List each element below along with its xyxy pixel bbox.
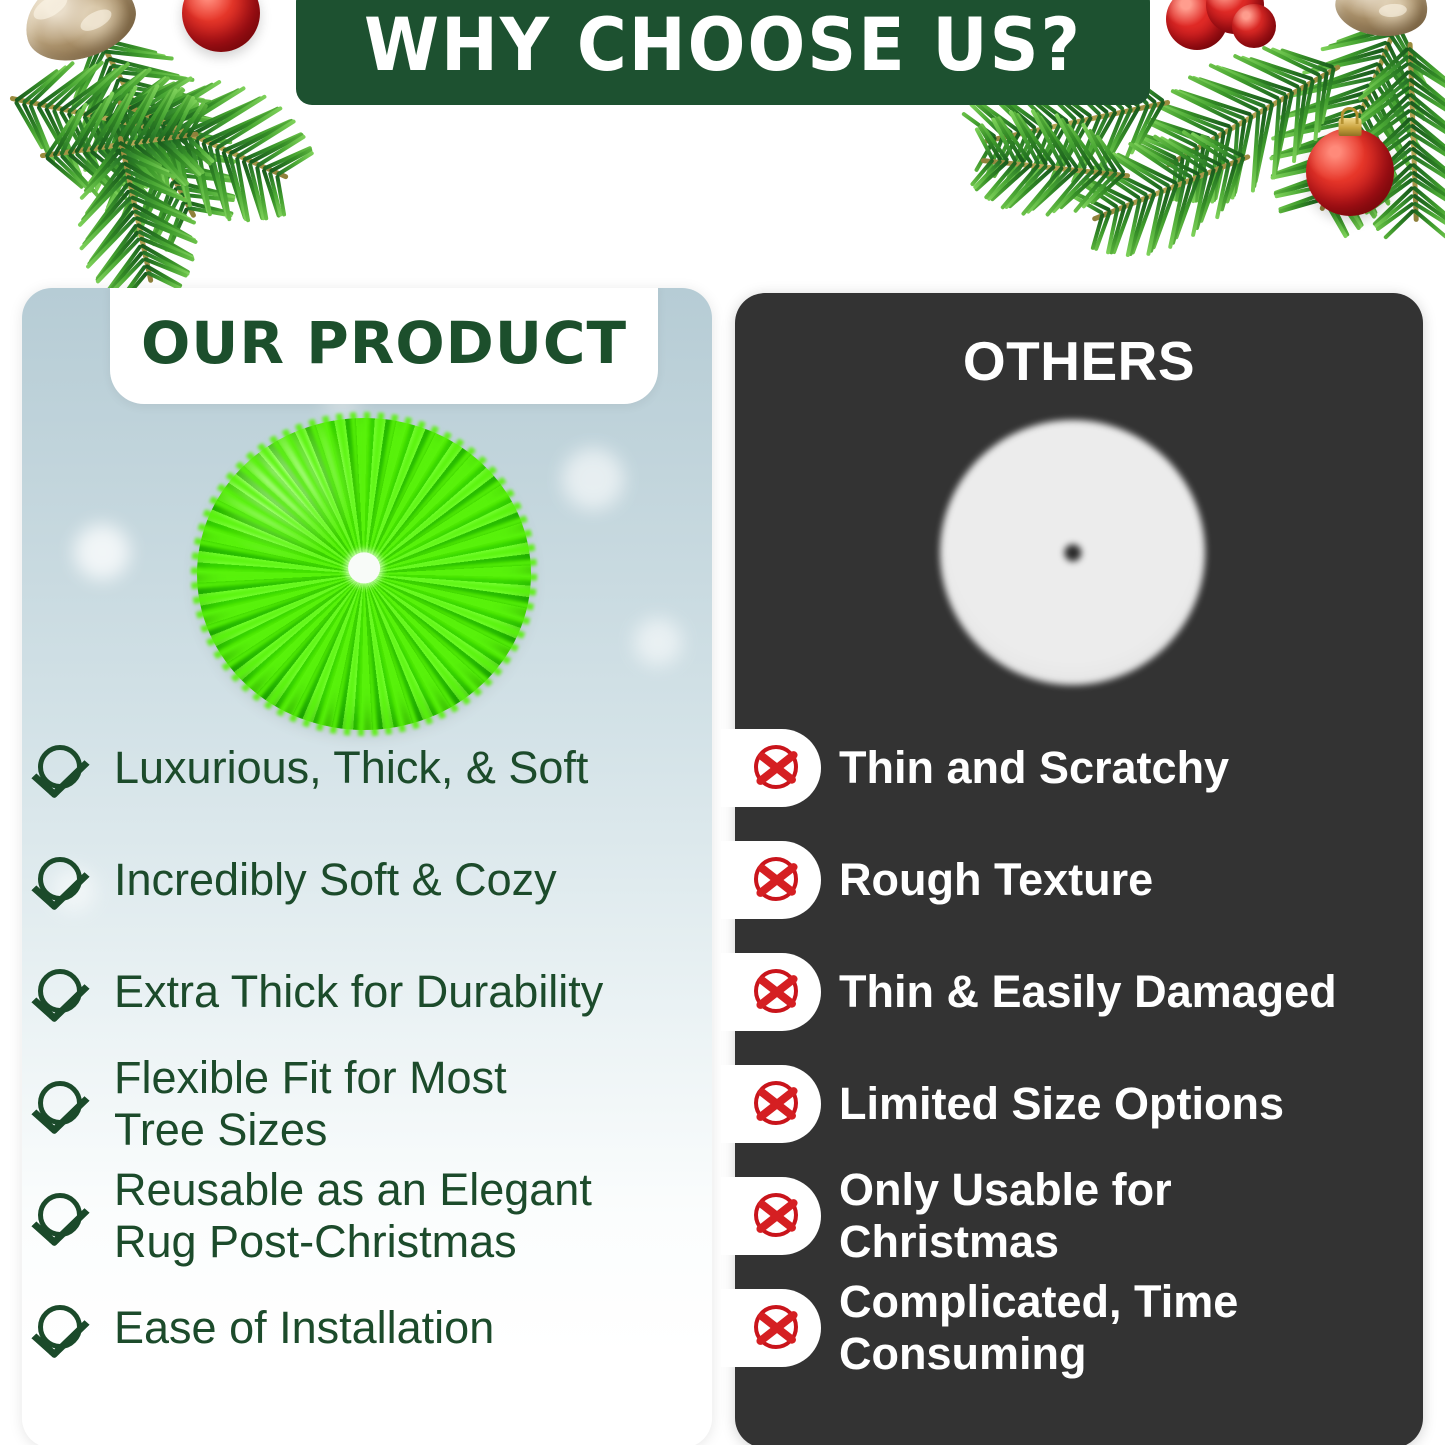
pine-needle	[255, 134, 306, 168]
pine-needle	[14, 100, 45, 150]
pine-needle	[130, 195, 196, 225]
pine-needle	[241, 159, 264, 220]
pine-needle	[1408, 85, 1445, 128]
branch-stem	[117, 100, 289, 180]
pine-needle	[1364, 178, 1414, 216]
pine-needle	[29, 104, 57, 164]
pine-needle	[983, 161, 1017, 201]
pine-needle	[74, 152, 121, 198]
pine-needle	[1408, 77, 1445, 123]
pine-needle	[105, 244, 142, 293]
pine-needle	[261, 168, 281, 217]
pine-needle	[1073, 170, 1110, 213]
pine-needle	[119, 123, 149, 190]
pine-needle	[1274, 169, 1336, 195]
pine-needle	[969, 102, 1005, 137]
pine-needle	[95, 237, 141, 284]
x-circle-icon	[752, 1079, 802, 1129]
pine-needle	[275, 175, 286, 217]
pine-needle	[118, 140, 163, 168]
pine-needle	[1139, 144, 1200, 177]
check-circle-icon	[36, 854, 88, 906]
pine-needle	[142, 87, 186, 130]
others-feature-label: Only Usable forChristmas	[839, 1164, 1172, 1268]
pine-needle	[81, 91, 114, 153]
pine-needle	[79, 196, 132, 251]
x-circle-icon	[752, 855, 802, 905]
pine-needle	[1262, 45, 1321, 77]
pine-needle	[81, 189, 130, 247]
branch-stem	[1408, 42, 1419, 222]
pine-needle	[118, 77, 199, 101]
pine-needle	[1213, 126, 1233, 200]
pine-needle	[60, 67, 120, 112]
pine-needle	[126, 144, 173, 195]
pine-needle	[123, 161, 178, 195]
pine-needle	[1009, 110, 1041, 166]
pine-needle	[111, 63, 188, 80]
pine-needle	[1274, 176, 1333, 197]
pine-needle	[149, 141, 190, 186]
pine-needle	[249, 132, 305, 165]
pine-branch	[980, 154, 1130, 182]
pine-needle	[29, 61, 75, 106]
pine-needle	[268, 171, 283, 217]
others-feature-label: Limited Size Options	[839, 1078, 1284, 1130]
pine-needle	[85, 216, 137, 269]
pine-needle	[122, 84, 206, 103]
pine-needle	[222, 119, 292, 153]
pine-needle	[1106, 207, 1120, 254]
pine-needle	[1382, 48, 1423, 115]
pine-needle	[44, 107, 78, 172]
pine-needle	[1233, 53, 1300, 89]
pine-needle	[189, 96, 263, 138]
pine-needle	[988, 133, 1013, 179]
pine-needle	[1095, 134, 1126, 174]
pine-needle	[77, 175, 128, 228]
pine-needle	[51, 109, 82, 178]
pine-needle	[94, 105, 135, 190]
pine-branch	[1164, 61, 1343, 171]
pine-needle	[143, 257, 188, 279]
pine-needle	[142, 128, 168, 185]
pine-needle	[163, 95, 193, 142]
pine-needle	[1336, 19, 1397, 45]
pine-needle	[1151, 183, 1179, 250]
pine-needle	[158, 152, 236, 164]
check-circle-icon	[36, 742, 88, 794]
pine-needle	[85, 182, 130, 242]
pine-needle	[1146, 120, 1197, 148]
pine-needle	[1015, 113, 1056, 168]
pine-needle	[74, 96, 110, 154]
pine-needle	[1273, 95, 1288, 174]
pine-needle	[1214, 64, 1286, 97]
pine-needle	[111, 89, 154, 149]
our-product-feature-label: Reusable as an ElegantRug Post-Christmas	[114, 1164, 592, 1268]
pine-needle	[1294, 83, 1308, 156]
pine-needle	[186, 136, 215, 164]
pine-needle	[1130, 192, 1156, 255]
pine-needle	[1345, 141, 1391, 207]
pine-needle	[141, 142, 187, 187]
pine-needle	[1412, 209, 1445, 240]
pine-needle	[1339, 155, 1378, 218]
pine-needle	[1280, 48, 1334, 69]
others-feature-label: Thin & Easily Damaged	[839, 966, 1337, 1018]
check-circle-icon	[36, 1190, 88, 1242]
pine-needle	[1354, 116, 1412, 172]
pine-needle	[1152, 134, 1207, 173]
pine-needle	[181, 133, 209, 209]
pine-needle	[1138, 138, 1177, 160]
pine-needle	[127, 182, 188, 220]
pine-needle	[1146, 189, 1164, 256]
pine-needle	[133, 104, 220, 123]
pine-needle	[1355, 147, 1413, 196]
pine-needle	[151, 194, 182, 247]
pine-needle	[1333, 170, 1364, 228]
x-circle-icon	[752, 967, 802, 1017]
pine-needle	[1320, 33, 1391, 52]
pine-needle	[1027, 122, 1061, 186]
pine-needle	[119, 86, 157, 148]
pine-needle	[95, 230, 140, 282]
pine-needle	[104, 120, 145, 187]
pine-needle	[1411, 170, 1445, 212]
pine-needle	[107, 57, 180, 79]
pine-needle	[142, 85, 207, 117]
pine-needle	[1091, 164, 1141, 200]
pine-needle	[1350, 85, 1410, 130]
pine-needle	[1148, 118, 1204, 144]
pine-needle	[115, 70, 195, 83]
pine-needle	[1351, 124, 1412, 176]
pinecone-top-right	[1331, 0, 1433, 43]
pine-needle	[1270, 154, 1341, 178]
pine-needle	[88, 203, 134, 264]
pine-needle	[97, 118, 129, 190]
pine-needle	[135, 75, 193, 114]
pine-needle	[1359, 105, 1400, 183]
pine-needle	[1233, 114, 1254, 194]
pine-needle	[112, 121, 148, 188]
pine-branch	[116, 97, 291, 184]
pine-needle	[156, 140, 200, 178]
pine-needle	[1278, 190, 1328, 212]
x-icon-pill	[721, 1065, 821, 1143]
branch-stem	[981, 158, 1131, 179]
pine-needle	[167, 127, 190, 202]
pine-needle	[136, 223, 194, 259]
pine-needle	[1038, 115, 1079, 170]
pine-needle	[112, 76, 168, 124]
pine-needle	[1030, 121, 1069, 185]
pine-needle	[209, 106, 281, 147]
pine-needle	[1195, 138, 1213, 203]
pine-needle	[100, 43, 166, 59]
pine-needle	[1171, 158, 1178, 201]
pine-needle	[1072, 190, 1111, 212]
pine-needle	[1208, 63, 1280, 101]
pine-needle	[1094, 163, 1148, 197]
pine-needle	[1174, 154, 1185, 202]
pine-needle	[136, 111, 224, 124]
pine-needle	[1090, 172, 1126, 205]
pine-needle	[1409, 116, 1445, 170]
pine-needle	[991, 117, 1018, 163]
pine-needle	[187, 206, 233, 218]
pine-needle	[1171, 177, 1194, 245]
pine-needle	[1293, 69, 1376, 97]
pine-needle	[1159, 136, 1215, 171]
pine-needle	[1362, 98, 1413, 171]
pine-needle	[1278, 197, 1324, 214]
pine-needle	[66, 112, 103, 182]
pine-needle	[52, 60, 105, 111]
pine-needle	[137, 229, 195, 260]
pine-needle	[202, 107, 277, 144]
pine-needle	[1412, 185, 1445, 225]
x-circle-icon	[752, 1191, 802, 1241]
pine-needle	[120, 147, 170, 174]
pine-needle	[178, 102, 205, 140]
our-product-feature-list: Luxurious, Thick, & SoftIncredibly Soft …	[0, 712, 690, 1384]
pine-needle	[1081, 171, 1118, 209]
x-icon-pill	[721, 1177, 821, 1255]
pine-needle	[1030, 108, 1064, 168]
pine-needle	[1351, 127, 1390, 202]
pine-needle	[1078, 110, 1117, 174]
pine-needle	[161, 158, 235, 180]
pine-needle	[79, 155, 124, 201]
pine-needle	[182, 98, 258, 135]
pine-needle	[90, 68, 149, 119]
pine-branch	[1090, 150, 1252, 225]
pine-needle	[1174, 174, 1201, 240]
pine-needle	[1221, 66, 1293, 93]
pine-needle	[201, 141, 229, 216]
pine-needle	[1034, 111, 1072, 169]
pine-needle	[1408, 93, 1445, 145]
pine-needle	[81, 168, 127, 222]
pine-needle	[133, 160, 164, 235]
pine-needle	[1365, 91, 1411, 167]
pine-needle	[175, 86, 246, 132]
pine-needle	[96, 36, 157, 55]
pine-needle	[97, 67, 152, 121]
pine-needle	[242, 132, 303, 162]
pine-needle	[1286, 83, 1370, 117]
pine-needle	[97, 99, 132, 185]
pine-needle	[169, 88, 241, 129]
pine-needle	[1094, 210, 1113, 252]
pine-needle	[1325, 191, 1350, 237]
red-berry-c	[1232, 4, 1276, 48]
pine-needle	[104, 50, 174, 62]
pine-needle	[977, 124, 1002, 161]
pine-needle	[121, 106, 142, 160]
pine-needle	[1025, 124, 1054, 188]
pine-needle	[59, 110, 100, 177]
pine-needle	[36, 105, 73, 165]
pine-needle	[262, 146, 312, 171]
pine-needle	[1411, 154, 1445, 196]
pine-needle	[194, 139, 212, 217]
pine-needle	[87, 141, 121, 185]
pine-needle	[105, 126, 145, 210]
pine-needle	[1139, 135, 1183, 156]
pine-needle	[129, 97, 214, 122]
pine-needle	[82, 70, 144, 117]
pine-needle	[1198, 165, 1223, 224]
pine-needle	[1096, 109, 1126, 175]
pine-needle	[1010, 126, 1046, 184]
our-product-feature-label: Extra Thick for Durability	[114, 966, 603, 1018]
pine-needle	[140, 118, 226, 143]
branch-stem	[1319, 15, 1402, 212]
pine-branch	[9, 92, 188, 141]
pine-needle	[155, 79, 221, 123]
pine-needle	[1410, 124, 1445, 174]
pine-needle	[1351, 101, 1411, 152]
pine-needle	[122, 81, 177, 108]
red-berry-b	[1206, 0, 1264, 34]
pine-needle	[174, 130, 192, 207]
pine-needle	[52, 108, 83, 157]
pine-needle	[44, 63, 98, 109]
red-bauble-top-right	[1306, 128, 1394, 216]
pine-needle	[80, 58, 110, 132]
pine-needle	[1373, 193, 1414, 229]
pine-needle	[1168, 180, 1187, 250]
pine-needle	[1212, 130, 1226, 202]
our-product-feature-row: Incredibly Soft & Cozy	[0, 824, 690, 936]
pine-needle	[172, 179, 235, 199]
pine-needle	[97, 148, 148, 197]
pine-needle	[1277, 97, 1365, 120]
pine-needle	[248, 163, 266, 221]
pine-needle	[1408, 62, 1445, 100]
pine-needle	[133, 209, 197, 243]
pine-needle	[974, 136, 997, 172]
pine-needle	[1362, 54, 1410, 95]
pine-needle	[89, 93, 131, 152]
pine-needle	[255, 166, 269, 221]
pine-needle	[1363, 170, 1414, 214]
pine-needle	[1302, 54, 1382, 75]
check-circle-icon	[36, 1302, 88, 1354]
pine-needle	[128, 188, 192, 222]
pine-needle	[77, 65, 113, 140]
pine-needle	[68, 51, 106, 118]
pine-needle	[60, 154, 100, 198]
pine-needle	[993, 116, 1025, 164]
pine-needle	[157, 131, 183, 179]
pine-needle	[1059, 117, 1095, 171]
pine-needle	[1274, 111, 1359, 139]
pine-needle	[87, 78, 120, 160]
pine-needle	[1357, 139, 1413, 193]
pine-needle	[229, 118, 295, 156]
pine-needle	[1177, 150, 1192, 202]
pine-needle	[1409, 100, 1445, 149]
pine-needle	[156, 94, 191, 143]
pine-needle	[1241, 55, 1307, 85]
pine-needle	[1020, 165, 1064, 216]
pine-needle	[1215, 162, 1231, 220]
pine-needle	[67, 153, 115, 194]
branch-stem	[984, 100, 1171, 144]
pine-needle	[269, 148, 313, 174]
pine-needle	[1271, 119, 1356, 141]
pine-needle	[1408, 70, 1445, 117]
pine-needle	[1368, 47, 1410, 88]
pine-needle	[1003, 164, 1048, 210]
pine-needle	[171, 96, 196, 141]
pine-needle	[1225, 156, 1246, 204]
pine-needle	[1070, 114, 1102, 184]
pine-needle	[1383, 209, 1415, 240]
pine-needle	[1372, 186, 1414, 227]
pine-needle	[144, 264, 183, 289]
infographic-root: WHY CHOOSE US? OUR PRODUCT Luxurious, Th…	[0, 0, 1445, 1445]
pine-needle	[221, 150, 247, 220]
pine-needle	[986, 161, 1025, 201]
pine-needle	[127, 109, 146, 168]
pine-needle	[1410, 139, 1445, 192]
our-product-feature-label: Luxurious, Thick, & Soft	[114, 742, 588, 794]
pine-needle	[1190, 131, 1237, 161]
pine-needle	[135, 86, 184, 128]
pine-needle	[67, 64, 126, 114]
bokeh-dot	[634, 618, 682, 666]
pine-needle	[1336, 162, 1377, 219]
pine-needle	[148, 180, 175, 244]
pine-needle	[996, 116, 1033, 165]
pine-needle	[22, 65, 68, 105]
our-product-heading-pill: OUR PRODUCT	[110, 288, 658, 404]
pine-needle	[1277, 104, 1362, 138]
pine-needle	[1177, 89, 1252, 117]
pine-needle	[1053, 115, 1094, 181]
pine-needle	[1007, 164, 1056, 209]
bokeh-dot	[562, 448, 624, 510]
pine-needle	[1273, 126, 1354, 159]
pine-needle	[1074, 112, 1110, 179]
pine-needle	[82, 151, 128, 201]
bokeh-dot	[74, 524, 130, 580]
pine-branch	[1316, 14, 1406, 213]
pine-needle	[1065, 122, 1103, 172]
red-berry-a	[1166, 0, 1228, 50]
pine-needle	[74, 61, 130, 115]
pine-needle	[44, 115, 75, 159]
pine-needle	[73, 38, 99, 100]
pine-needle	[215, 105, 283, 150]
pine-needle	[147, 131, 232, 144]
pine-needle	[128, 86, 183, 127]
pine-needle	[89, 116, 126, 187]
pine-needle	[150, 129, 181, 179]
our-product-feature-row: Ease of Installation	[0, 1272, 690, 1384]
pine-needle	[1081, 122, 1110, 172]
pine-needle	[96, 89, 134, 151]
others-feature-label: Rough Texture	[839, 854, 1153, 906]
others-feature-row: Thin and Scratchy	[735, 712, 1423, 824]
pine-needle	[1348, 108, 1412, 156]
